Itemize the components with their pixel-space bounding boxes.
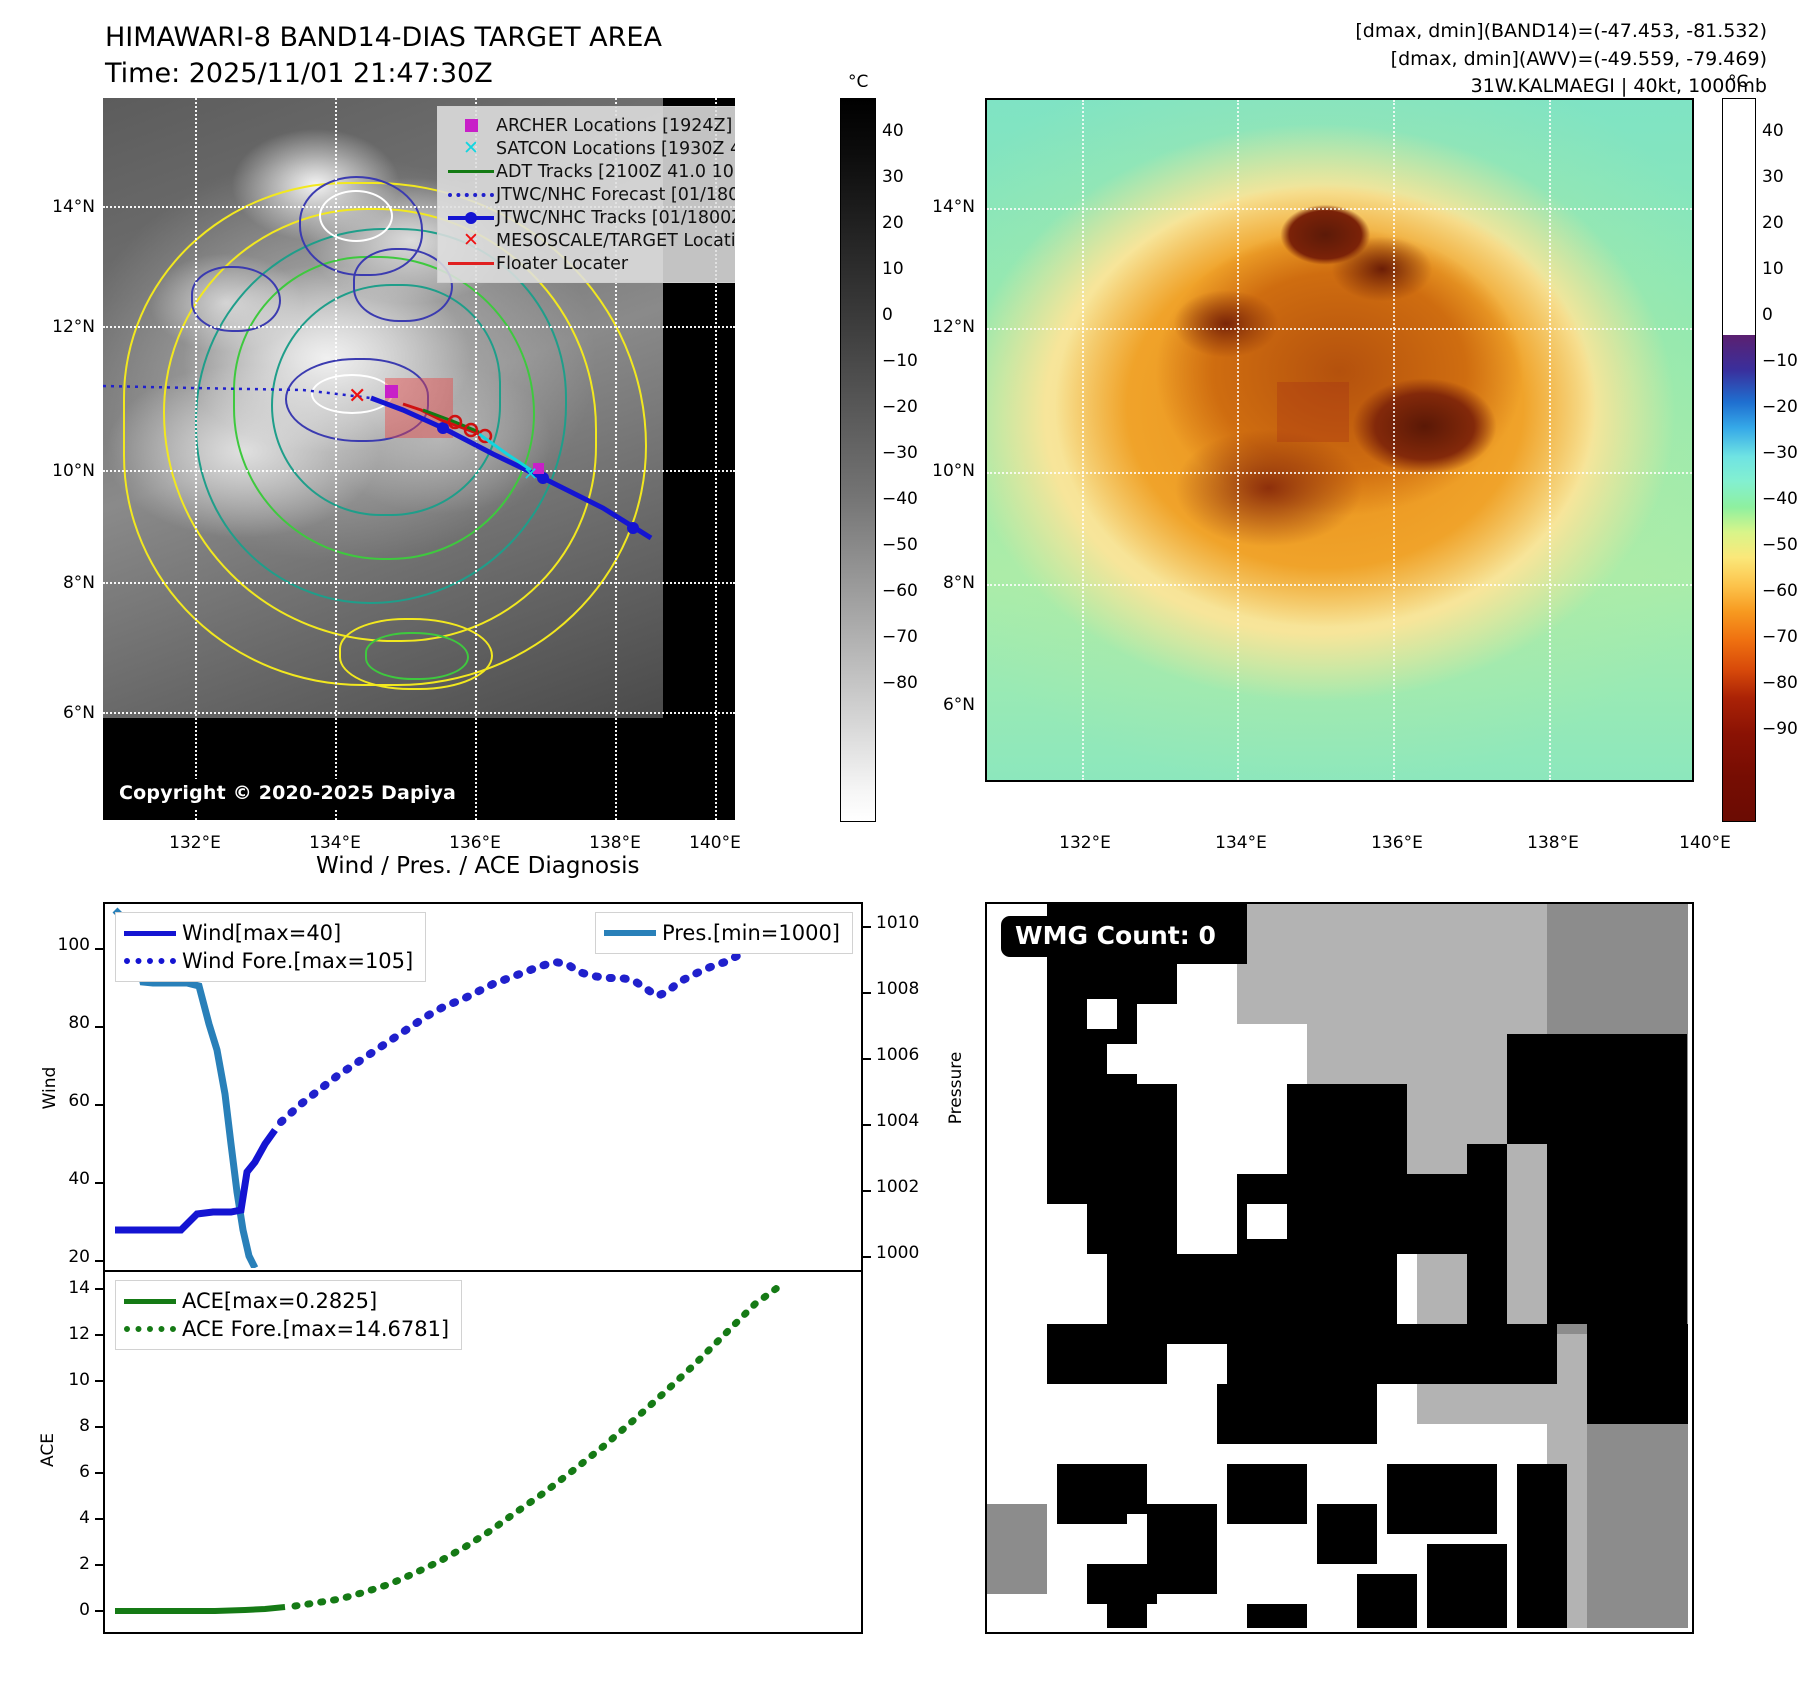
legend-item: Floater Locater (446, 252, 735, 275)
awv-colorbar-tick: −70 (1762, 627, 1797, 647)
pres-ytick (861, 992, 871, 994)
legend-label: Wind[max=40] (182, 921, 341, 945)
ir-lon-label-134E: 134°E (285, 833, 385, 853)
solid-line-icon (124, 931, 182, 936)
awv-colorbar-tick: −30 (1762, 443, 1797, 463)
wind-ytick (95, 1104, 105, 1106)
legend-label: Pres.[min=1000] (662, 921, 840, 945)
pres-ytick-label-1008: 1008 (876, 979, 956, 999)
ace-ytick (95, 1334, 105, 1336)
legend-item: ✕ MESOSCALE/TARGET Location (446, 229, 735, 252)
awv-colorbar-tick: −10 (1762, 351, 1797, 371)
legend-label: MESOSCALE/TARGET Location (496, 231, 735, 251)
pres-ytick-label-1000: 1000 (876, 1243, 956, 1263)
legend-item: JTWC/NHC Forecast [01/1800Z] (446, 183, 735, 206)
awv-colorbar-tick: −20 (1762, 397, 1797, 417)
jtwc-track (371, 398, 651, 538)
ace-ytick (95, 1610, 105, 1612)
solid-line-icon (604, 930, 662, 936)
awv-lat-label-12N: 12°N (890, 317, 975, 337)
awv-lon-label-134E: 134°E (1186, 833, 1296, 853)
ace-ytick (95, 1426, 105, 1428)
awv-lat-label-8N: 8°N (890, 573, 975, 593)
pres-ytick (861, 1058, 871, 1060)
ace-ytick-label-14: 14 (10, 1278, 90, 1298)
legend-item: Wind[max=40] (124, 919, 413, 947)
ace-ytick-label-12: 12 (10, 1324, 90, 1344)
legend-item: ADT Tracks [2100Z 41.0 1004.6] (446, 160, 735, 183)
legend-item: Wind Fore.[max=105] (124, 947, 413, 975)
awv-colorbar-tick: −80 (1762, 673, 1797, 693)
ir-legend: ARCHER Locations [1924Z] ✕ SATCON Locati… (437, 106, 735, 283)
ace-series (115, 1607, 285, 1611)
awv-colorbar-tick: −40 (1762, 489, 1797, 509)
satcon-location-marker: ✕ (523, 466, 538, 484)
dmax-dmin-band14: [dmax, dmin](BAND14)=(-47.453, -81.532) (1355, 18, 1767, 46)
line-with-dot-icon (446, 216, 496, 220)
ace-ytick (95, 1472, 105, 1474)
wind-legend: Wind[max=40] Wind Fore.[max=105] (115, 912, 426, 982)
wind-ytick-label-20: 20 (10, 1247, 90, 1267)
ir-satellite-panel[interactable]: ✕ ✕ ARCHER Locations [1924Z] ✕ SATCON Lo… (103, 98, 735, 820)
awv-gridline-lon-134E (1237, 100, 1239, 780)
wmg-count-badge: WMG Count: 0 (1001, 916, 1230, 957)
ir-lat-label-6N: 6°N (10, 703, 95, 723)
ir-colorbar-tick: 30 (882, 167, 904, 187)
awv-target-area-box (1277, 382, 1349, 442)
ir-colorbar-tick: −70 (882, 627, 918, 647)
ace-ytick (95, 1518, 105, 1520)
awv-gridline-lat-14N (987, 208, 1692, 210)
x-marker-red-icon: ✕ (446, 231, 496, 250)
dmax-dmin-awv: [dmax, dmin](AWV)=(-49.559, -79.469) (1355, 46, 1767, 74)
pressure-axis-label: Pressure (946, 1028, 966, 1148)
ir-colorbar-tick: −10 (882, 351, 918, 371)
awv-colorbar-tick: −90 (1762, 719, 1797, 739)
solid-line-red-icon (446, 262, 496, 265)
ir-lon-label-140E: 140°E (665, 833, 765, 853)
awv-lon-label-138E: 138°E (1498, 833, 1608, 853)
awv-colorbar-tick: −50 (1762, 535, 1797, 555)
pres-ytick-label-1004: 1004 (876, 1111, 956, 1131)
ir-colorbar[interactable] (840, 98, 876, 822)
pres-ytick (861, 1256, 871, 1258)
pressure-legend: Pres.[min=1000] (595, 912, 853, 954)
ir-colorbar-tick: −50 (882, 535, 918, 555)
ir-lon-label-138E: 138°E (565, 833, 665, 853)
awv-colorbar-tick: 0 (1762, 305, 1773, 325)
legend-label: Wind Fore.[max=105] (182, 949, 413, 973)
ir-colorbar-title: °C (848, 72, 868, 92)
awv-gridline-lon-132E (1082, 100, 1084, 780)
ir-colorbar-tick: 10 (882, 259, 904, 279)
awv-colorbar-tick: 30 (1762, 167, 1784, 187)
awv-lat-label-6N: 6°N (890, 695, 975, 715)
header-info: [dmax, dmin](BAND14)=(-47.453, -81.532) … (1355, 18, 1767, 101)
awv-lon-label-136E: 136°E (1342, 833, 1452, 853)
awv-gridline-lat-12N (987, 328, 1692, 330)
ir-lat-label-14N: 14°N (10, 197, 95, 217)
dotted-line-icon (446, 193, 496, 197)
ace-legend: ACE[max=0.2825] ACE Fore.[max=14.6781] (115, 1280, 462, 1350)
diagnosis-title: Wind / Pres. / ACE Diagnosis (316, 853, 639, 879)
storm-summary: 31W.KALMAEGI | 40kt, 1000mb (1355, 73, 1767, 101)
pres-ytick (861, 1124, 871, 1126)
ace-ytick-label-10: 10 (10, 1370, 90, 1390)
ir-lon-label-132E: 132°E (145, 833, 245, 853)
awv-gridline-lon-138E (1549, 100, 1551, 780)
legend-item: ARCHER Locations [1924Z] (446, 114, 735, 137)
archer-location-marker (385, 385, 398, 398)
page-title: HIMAWARI-8 BAND14-DIAS TARGET AREA Time:… (105, 20, 662, 91)
ace-ytick (95, 1380, 105, 1382)
awv-colorbar-tick: −60 (1762, 581, 1797, 601)
ace-ytick-label-4: 4 (10, 1508, 90, 1528)
awv-lat-label-10N: 10°N (890, 461, 975, 481)
legend-label: ARCHER Locations [1924Z] (496, 116, 732, 136)
wind-pressure-chart[interactable]: Wind[max=40] Wind Fore.[max=105] Pres.[m… (103, 902, 863, 1274)
ir-colorbar-tick: −30 (882, 443, 918, 463)
awv-satellite-panel[interactable] (985, 98, 1690, 820)
ir-colorbar-tick: −80 (882, 673, 918, 693)
awv-colorbar-tick: 20 (1762, 213, 1784, 233)
wind-series (115, 1130, 275, 1230)
ir-colorbar-tick: −40 (882, 489, 918, 509)
solid-line-icon (124, 1299, 182, 1304)
legend-label: SATCON Locations [1930Z 40 1001] (496, 139, 735, 159)
ir-colorbar-tick: 40 (882, 121, 904, 141)
ir-image[interactable]: ✕ ✕ ARCHER Locations [1924Z] ✕ SATCON Lo… (103, 98, 735, 820)
legend-label: ADT Tracks [2100Z 41.0 1004.6] (496, 162, 735, 182)
wind-ytick-label-100: 100 (10, 935, 90, 955)
wind-ytick (95, 1026, 105, 1028)
copyright-notice: Copyright © 2020-2025 Dapiya (111, 779, 466, 808)
ir-lon-label-136E: 136°E (425, 833, 525, 853)
wind-ytick (95, 1182, 105, 1184)
awv-gridline-lat-10N (987, 472, 1692, 474)
pres-ytick-label-1002: 1002 (876, 1177, 956, 1197)
title-line-2: Time: 2025/11/01 21:47:30Z (105, 56, 662, 92)
legend-label: ACE[max=0.2825] (182, 1289, 377, 1313)
pres-ytick-label-1006: 1006 (876, 1045, 956, 1065)
awv-colorbar-tick: 10 (1762, 259, 1784, 279)
wind-axis-label: Wind (40, 1028, 60, 1148)
title-line-1: HIMAWARI-8 BAND14-DIAS TARGET AREA (105, 20, 662, 56)
legend-label: JTWC/NHC Forecast [01/1800Z] (496, 185, 735, 205)
awv-gridline-lon-136E (1393, 100, 1395, 780)
ace-chart[interactable]: ACE[max=0.2825] ACE Fore.[max=14.6781] (103, 1270, 863, 1634)
awv-lat-label-14N: 14°N (890, 197, 975, 217)
wind-ytick-label-40: 40 (10, 1169, 90, 1189)
wmg-mask-image (987, 904, 1688, 1628)
ir-lat-label-12N: 12°N (10, 317, 95, 337)
ace-ytick-label-2: 2 (10, 1554, 90, 1574)
pres-ytick (861, 926, 871, 928)
dotted-line-icon (124, 958, 182, 964)
dotted-line-icon (124, 1326, 182, 1332)
legend-label: Floater Locater (496, 254, 628, 274)
awv-image[interactable] (985, 98, 1694, 782)
ir-colorbar-tick: −20 (882, 397, 918, 417)
awv-gridline-lat-8N (987, 584, 1692, 586)
mesoscale-target-x-marker: ✕ (348, 386, 366, 408)
legend-item: ACE[max=0.2825] (124, 1287, 449, 1315)
ace-ytick (95, 1288, 105, 1290)
legend-item: Pres.[min=1000] (604, 919, 840, 947)
awv-lon-label-140E: 140°E (1650, 833, 1760, 853)
pres-ytick (861, 1190, 871, 1192)
legend-label: ACE Fore.[max=14.6781] (182, 1317, 449, 1341)
jtwc-forecast-track (103, 386, 371, 398)
legend-item: JTWC/NHC Tracks [01/1800Z] (446, 206, 735, 229)
legend-item: ✕ SATCON Locations [1930Z 40 1001] (446, 137, 735, 160)
ir-lat-label-10N: 10°N (10, 461, 95, 481)
solid-line-icon (446, 170, 496, 173)
wind-ytick (95, 1260, 105, 1262)
x-marker-icon: ✕ (446, 139, 496, 158)
ace-ytick-label-0: 0 (10, 1600, 90, 1620)
ace-axis-label: ACE (38, 1390, 58, 1510)
square-marker-icon (446, 119, 496, 132)
wind-ytick (95, 948, 105, 950)
awv-lon-label-132E: 132°E (1030, 833, 1140, 853)
pres-ytick-label-1010: 1010 (876, 913, 956, 933)
awv-colorbar-title: °C (1728, 72, 1748, 92)
wmg-panel[interactable]: WMG Count: 0 (985, 902, 1694, 1634)
legend-label: JTWC/NHC Tracks [01/1800Z] (496, 208, 735, 228)
legend-item: ACE Fore.[max=14.6781] (124, 1315, 449, 1343)
awv-colorbar-tick: 40 (1762, 121, 1784, 141)
ir-lat-label-8N: 8°N (10, 573, 95, 593)
jtwc-track-point (627, 522, 639, 534)
awv-colorbar[interactable] (1722, 98, 1756, 822)
ace-ytick (95, 1564, 105, 1566)
